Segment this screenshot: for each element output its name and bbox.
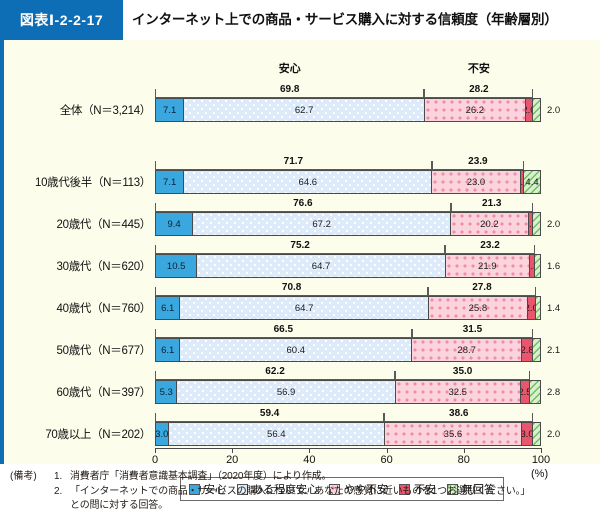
bar-segment-無回答: [534, 255, 540, 277]
segment-value-label: 6.1: [161, 345, 174, 356]
footnote-key: (備考): [10, 470, 54, 485]
segment-value-label: 2.0: [527, 303, 535, 314]
bracket-total-value: 70.8: [278, 282, 305, 293]
bracket-line: [155, 329, 412, 338]
bar-segment-無回答: [532, 339, 540, 361]
bracket-fuan-total: 27.8: [428, 284, 535, 296]
segment-value-label: 21.9: [478, 261, 497, 272]
x-axis-tick: [387, 448, 388, 453]
chart-panel: 全体（N＝3,214）69.828.27.162.726.22.02.010歳代…: [0, 40, 600, 464]
chart-row: 50歳代（N＝677）66.531.56.160.428.72.82.1: [4, 318, 600, 364]
bar-segment-やや不安: 25.8: [428, 297, 527, 319]
chart-row: 40歳代（N＝760）70.827.86.164.725.82.01.4: [4, 276, 600, 322]
x-axis-tick: [155, 448, 156, 453]
x-axis-line: [155, 448, 541, 449]
bracket-total-value: 59.4: [256, 408, 283, 419]
segment-value-label: 1.1: [528, 219, 532, 230]
bar-segment-安心: 3.0: [156, 423, 168, 445]
segment-value-label: 10.5: [167, 261, 186, 272]
segment-value-label: 64.7: [312, 261, 331, 272]
chart-row: 全体（N＝3,214）69.828.27.162.726.22.02.0: [4, 78, 600, 124]
segment-value-label: 67.2: [312, 219, 331, 230]
bracket-line: [395, 371, 530, 380]
bar-segment-やや不安: 32.5: [395, 381, 520, 403]
x-axis-tick: [232, 448, 233, 453]
bracket-line: [155, 287, 428, 296]
bar-segment-ある程度安心: 62.7: [183, 99, 424, 121]
x-axis-tick: [464, 448, 465, 453]
bracket-anshin-total: 71.7: [155, 158, 432, 170]
chart-row: 60歳代（N＝397）62.235.05.356.932.52.52.8: [4, 360, 600, 406]
bracket-fuan-total: 31.5: [412, 326, 534, 338]
bracket-line: [155, 161, 432, 170]
group-header-anshin: 安心: [155, 60, 424, 76]
footnote-number: 2.: [54, 485, 70, 500]
bracket-fuan-total: 38.6: [384, 410, 533, 422]
outside-value-label: 2.0: [543, 98, 560, 122]
segment-value-label: 20.2: [480, 219, 499, 230]
segment-value-label: 32.5: [448, 387, 467, 398]
bracket-line: [155, 89, 424, 98]
bracket-total-value: 23.9: [464, 156, 491, 167]
bracket-total-value: 71.7: [280, 156, 307, 167]
bar-segment-安心: 9.4: [156, 213, 192, 235]
bracket-line: [445, 245, 535, 254]
x-axis-tick: [309, 448, 310, 453]
bar-segment-ある程度安心: 64.7: [196, 255, 444, 277]
segment-value-label: 35.6: [444, 429, 463, 440]
chart-row: 10歳代後半（N＝113）71.723.97.164.623.00.94.4: [4, 150, 600, 196]
outside-value-label: 2.0: [543, 212, 560, 236]
bar-segment-安心: 6.1: [156, 297, 179, 319]
bracket-total-value: 76.6: [289, 198, 316, 209]
chart-row: 70歳以上（N＝202）59.438.63.056.435.63.02.0: [4, 402, 600, 448]
segment-value-label: 1.3: [529, 261, 534, 272]
bracket-total-value: 31.5: [459, 324, 486, 335]
segment-value-label: 64.6: [299, 177, 318, 188]
bar-segment-不安: 2.8: [521, 339, 532, 361]
bar-segment-不安: 2.0: [525, 99, 533, 121]
bracket-fuan-total: 28.2: [424, 86, 533, 98]
segment-value-label: 5.3: [160, 387, 173, 398]
bar-segment-ある程度安心: 60.4: [179, 339, 411, 361]
footnote-number: 1.: [54, 470, 70, 485]
bracket-anshin-total: 70.8: [155, 284, 428, 296]
bar-segment-不安: 2.0: [527, 297, 535, 319]
bar-segment-やや不安: 23.0: [431, 171, 519, 193]
bracket-fuan-total: 21.3: [451, 200, 533, 212]
outside-value-label: 2.1: [543, 338, 560, 362]
segment-value-label: 26.2: [466, 105, 485, 116]
bar-segment-安心: 5.3: [156, 381, 176, 403]
bar-segment-ある程度安心: 56.4: [168, 423, 385, 445]
segment-value-label: 3.0: [156, 429, 168, 440]
stacked-bar: 3.056.435.63.0: [155, 422, 541, 446]
bracket-total-value: 21.3: [478, 198, 505, 209]
group-header-fuan: 不安: [424, 60, 533, 76]
bracket-anshin-total: 75.2: [155, 242, 445, 254]
bar-segment-ある程度安心: 67.2: [192, 213, 450, 235]
bar-segment-やや不安: 20.2: [450, 213, 528, 235]
bracket-line: [451, 203, 533, 212]
bracket-fuan-total: 23.2: [445, 242, 535, 254]
bar-segment-安心: 7.1: [156, 99, 183, 121]
outside-value-label: 2.8: [543, 380, 560, 404]
footnote-key-spacer: [10, 485, 54, 500]
bar-segment-ある程度安心: 56.9: [176, 381, 394, 403]
chart-row: 20歳代（N＝445）76.621.39.467.220.21.12.0: [4, 192, 600, 238]
page-title: インターネット上での商品・サービス購入に対する信頼度（年齢層別）: [132, 11, 558, 28]
row-category-label: 30歳代（N＝620）: [4, 234, 151, 280]
segment-value-label: 56.4: [267, 429, 286, 440]
row-category-label: 20歳代（N＝445）: [4, 192, 151, 238]
row-category-label: 10歳代後半（N＝113）: [4, 150, 151, 196]
figure-header: 図表Ⅰ-2-2-17 インターネット上での商品・サービス購入に対する信頼度（年齢…: [0, 0, 600, 40]
bar-segment-安心: 7.1: [156, 171, 183, 193]
bar-segment-無回答: [532, 213, 540, 235]
segment-value-label: 23.0: [467, 177, 486, 188]
bracket-total-value: 75.2: [286, 240, 313, 251]
segment-value-label: 0.9: [520, 177, 523, 188]
segment-value-label: 2.8: [521, 345, 532, 356]
segment-value-label: 7.1: [163, 177, 176, 188]
bar-segment-無回答: [535, 297, 540, 319]
bracket-total-value: 38.6: [445, 408, 472, 419]
bracket-line: [155, 413, 384, 422]
figure-panel: 図表Ⅰ-2-2-17 インターネット上での商品・サービス購入に対する信頼度（年齢…: [0, 0, 600, 526]
figure-number-badge: 図表Ⅰ-2-2-17: [0, 0, 123, 40]
bracket-anshin-total: 62.2: [155, 368, 395, 380]
x-axis-tick-label: 60: [367, 454, 407, 466]
x-axis-tick-label: 100: [521, 454, 561, 466]
footnote-text: 消費者庁「消費者意識基本調査」（2020年度）により作成。: [70, 470, 592, 485]
row-category-label: 70歳以上（N＝202）: [4, 402, 151, 448]
bracket-line: [424, 89, 533, 98]
bar-segment-無回答: [532, 99, 540, 121]
bracket-total-value: 27.8: [468, 282, 495, 293]
segment-value-label: 6.1: [161, 303, 174, 314]
bracket-total-value: 28.2: [465, 84, 492, 95]
stacked-bar: 9.467.220.21.1: [155, 212, 541, 236]
x-axis-tick-label: 40: [289, 454, 329, 466]
x-axis-tick-label: 20: [212, 454, 252, 466]
stacked-bar: 6.164.725.82.0: [155, 296, 541, 320]
segment-value-label: 56.9: [277, 387, 296, 398]
bar-segment-やや不安: 26.2: [424, 99, 525, 121]
bracket-total-value: 62.2: [261, 366, 288, 377]
bar-segment-無回答: [532, 423, 540, 445]
bracket-line: [155, 203, 451, 212]
footnote-item: (備考) 1. 消費者庁「消費者意識基本調査」（2020年度）により作成。: [10, 470, 592, 485]
bar-segment-安心: 6.1: [156, 339, 179, 361]
segment-value-label: 2.0: [525, 105, 533, 116]
row-category-label: 全体（N＝3,214）: [4, 78, 151, 124]
bar-segment-安心: 10.5: [156, 255, 196, 277]
bracket-line: [384, 413, 533, 422]
bar-segment-やや不安: 35.6: [384, 423, 521, 445]
bracket-total-value: 35.0: [449, 366, 476, 377]
outside-value-label: 1.6: [543, 254, 560, 278]
bracket-total-value: 69.8: [276, 84, 303, 95]
bracket-line: [412, 329, 534, 338]
segment-value-label: 7.1: [163, 105, 176, 116]
stacked-bar: 6.160.428.72.8: [155, 338, 541, 362]
footnotes: (備考) 1. 消費者庁「消費者意識基本調査」（2020年度）により作成。 2.…: [0, 466, 600, 526]
stacked-bar: 7.164.623.00.94.4: [155, 170, 541, 194]
bracket-line: [155, 371, 395, 380]
stacked-bar: 10.564.721.91.3: [155, 254, 541, 278]
stacked-bar: 7.162.726.22.0: [155, 98, 541, 122]
footnote-continuation: との問に対する回答。: [10, 499, 592, 514]
bar-segment-不安: 2.5: [520, 381, 530, 403]
bracket-fuan-total: 35.0: [395, 368, 530, 380]
row-category-label: 60歳代（N＝397）: [4, 360, 151, 406]
bracket-line: [155, 245, 445, 254]
segment-value-label: 4.4: [525, 177, 538, 188]
bracket-anshin-total: 66.5: [155, 326, 412, 338]
x-axis-tick-label: 0: [135, 454, 175, 466]
bracket-total-value: 66.5: [270, 324, 297, 335]
bracket-fuan-total: 23.9: [432, 158, 524, 170]
chart-row: 30歳代（N＝620）75.223.210.564.721.91.31.6: [4, 234, 600, 280]
bracket-anshin-total: 69.8: [155, 86, 424, 98]
figure-title-container: インターネット上での商品・サービス購入に対する信頼度（年齢層別）: [123, 0, 600, 40]
x-axis-tick-label: 80: [444, 454, 484, 466]
bar-segment-無回答: 4.4: [523, 171, 540, 193]
bar-segment-不安: 3.0: [521, 423, 533, 445]
row-category-label: 40歳代（N＝760）: [4, 276, 151, 322]
outside-value-label: 1.4: [543, 296, 560, 320]
bracket-total-value: 23.2: [476, 240, 503, 251]
bracket-anshin-total: 59.4: [155, 410, 384, 422]
x-axis-tick: [541, 448, 542, 453]
bar-segment-ある程度安心: 64.6: [183, 171, 431, 193]
segment-value-label: 60.4: [287, 345, 306, 356]
segment-value-label: 25.8: [469, 303, 488, 314]
segment-value-label: 2.5: [520, 387, 530, 398]
footnote-item: 2. 「インターネットでの商品・サービスの購入について、あなたの感覚に近いものを…: [10, 485, 592, 500]
bracket-anshin-total: 76.6: [155, 200, 451, 212]
segment-value-label: 9.4: [167, 219, 180, 230]
chart-plot-area: 全体（N＝3,214）69.828.27.162.726.22.02.010歳代…: [4, 40, 600, 464]
segment-value-label: 64.7: [295, 303, 314, 314]
bar-segment-ある程度安心: 64.7: [179, 297, 427, 319]
footnote-text: 「インターネットでの商品・サービスの購入について、あなたの感覚に近いものを1つお…: [70, 485, 592, 500]
stacked-bar: 5.356.932.52.5: [155, 380, 541, 404]
bar-segment-やや不安: 21.9: [445, 255, 529, 277]
segment-value-label: 28.7: [457, 345, 476, 356]
bracket-line: [432, 161, 524, 170]
bar-segment-無回答: [529, 381, 540, 403]
outside-value-label: 2.0: [543, 422, 560, 446]
bar-segment-やや不安: 28.7: [411, 339, 521, 361]
segment-value-label: 62.7: [295, 105, 314, 116]
row-category-label: 50歳代（N＝677）: [4, 318, 151, 364]
bracket-line: [428, 287, 535, 296]
segment-value-label: 3.0: [521, 429, 533, 440]
